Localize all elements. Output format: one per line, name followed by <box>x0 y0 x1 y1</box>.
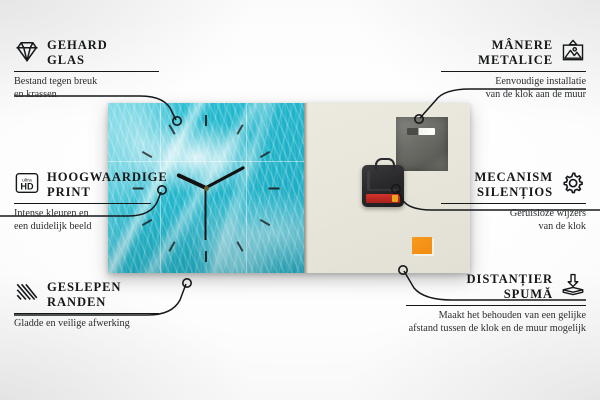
feature-title-line2: RANDEN <box>47 295 121 310</box>
feature-title-line2: PRINT <box>47 185 168 200</box>
feature-title-line1: HOOGWAARDIGE <box>47 170 168 185</box>
foam-spacer-icon <box>560 272 586 298</box>
feature-title-line1: GESLEPEN <box>47 280 121 295</box>
feature-title-line1: DISTANȚIER <box>467 272 553 287</box>
picture-hook-icon <box>560 38 586 64</box>
feature-title-line2: GLAS <box>47 53 108 68</box>
feature-title-line1: GEHARD <box>47 38 108 53</box>
bevelled-edges-icon <box>14 280 40 306</box>
feature-rule <box>14 313 159 314</box>
feature-geslepen-randen: GESLEPEN RANDEN Gladde en veilige afwerk… <box>14 280 159 331</box>
feature-desc-line1: Geruisloze wijzers <box>441 208 586 221</box>
ultra-hd-icon: ultra HD <box>14 170 40 196</box>
feature-title-line2: SPUMĂ <box>467 287 553 302</box>
feature-rule <box>441 203 586 204</box>
feature-desc-line2: van de klok <box>441 221 586 234</box>
feature-title-line2: METALICE <box>478 53 553 68</box>
gear-icon <box>560 170 586 196</box>
feature-desc-line2: afstand tussen de klok en de muur mogeli… <box>406 323 586 336</box>
battery <box>366 194 400 203</box>
feature-desc-line2: van de klok aan de muur <box>441 89 586 102</box>
metal-hanger-plate <box>396 117 448 171</box>
leader-dot-geslepen-randen <box>183 279 191 287</box>
svg-text:HD: HD <box>20 182 34 192</box>
feature-rule <box>441 71 586 72</box>
feature-title-line2: SILENȚIOS <box>474 185 553 200</box>
mechanism-hanging-loop <box>375 158 395 170</box>
feature-hoogwaardige-print: ultra HD HOOGWAARDIGE PRINT Intense kleu… <box>14 170 151 234</box>
feature-rule <box>406 305 586 306</box>
feature-desc-line2: en krassen <box>14 89 159 102</box>
feature-desc-line2: een duidelijk beeld <box>14 221 151 234</box>
hanger-keyhole-slot <box>407 128 435 135</box>
quartz-mechanism <box>362 165 404 207</box>
feature-rule <box>14 203 151 204</box>
diamond-icon <box>14 38 40 64</box>
feature-title-line1: MÂNERE <box>478 38 553 53</box>
feature-rule <box>14 71 159 72</box>
feature-desc-line1: Eenvoudige installatie <box>441 76 586 89</box>
infographic-canvas: GEHARD GLAS Bestand tegen breuk en krass… <box>0 0 600 400</box>
foam-spacer-pad <box>412 237 432 254</box>
feature-gehard-glas: GEHARD GLAS Bestand tegen breuk en krass… <box>14 38 159 102</box>
feature-desc-line1: Maakt het behouden van een gelijke <box>406 310 586 323</box>
feature-desc-line1: Bestand tegen breuk <box>14 76 159 89</box>
feature-manere-metalice: MÂNERE METALICE Eenvoudige installatie v… <box>441 38 586 102</box>
mechanism-housing-detail <box>367 171 399 191</box>
feature-desc-line1: Intense kleuren en <box>14 208 151 221</box>
feature-desc-line1: Gladde en veilige afwerking <box>14 318 159 331</box>
feature-title-line1: MECANISM <box>474 170 553 185</box>
feature-mecanism-silentios: MECANISM SILENȚIOS Geruisloze wijzers va… <box>441 170 586 234</box>
feature-distantier-spuma: DISTANȚIER SPUMĂ Maakt het behouden van … <box>406 272 586 336</box>
